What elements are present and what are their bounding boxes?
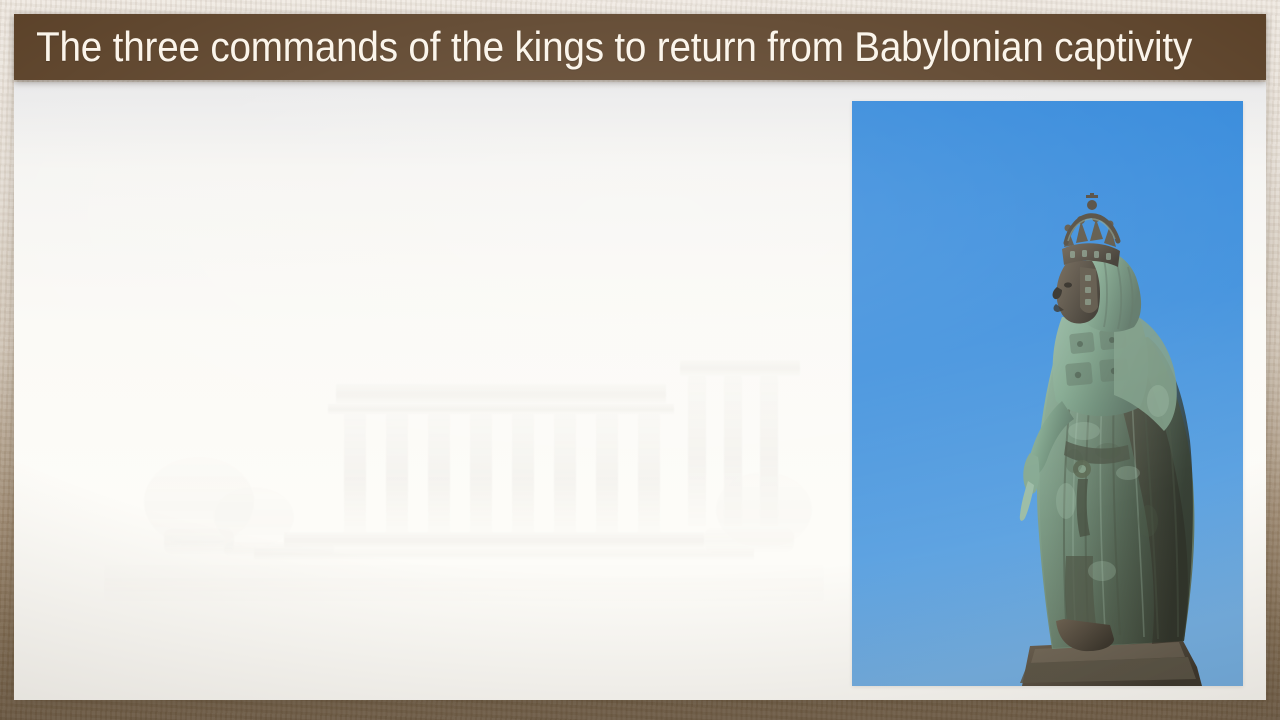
classical-ruins-watermark (104, 332, 824, 632)
king-statue-photo (852, 101, 1243, 686)
slide-frame: The three commands of the kings to retur… (0, 0, 1280, 720)
page-title: The three commands of the kings to retur… (14, 26, 1192, 68)
slide-title-bar: The three commands of the kings to retur… (14, 14, 1266, 80)
slide-body (14, 82, 1266, 700)
